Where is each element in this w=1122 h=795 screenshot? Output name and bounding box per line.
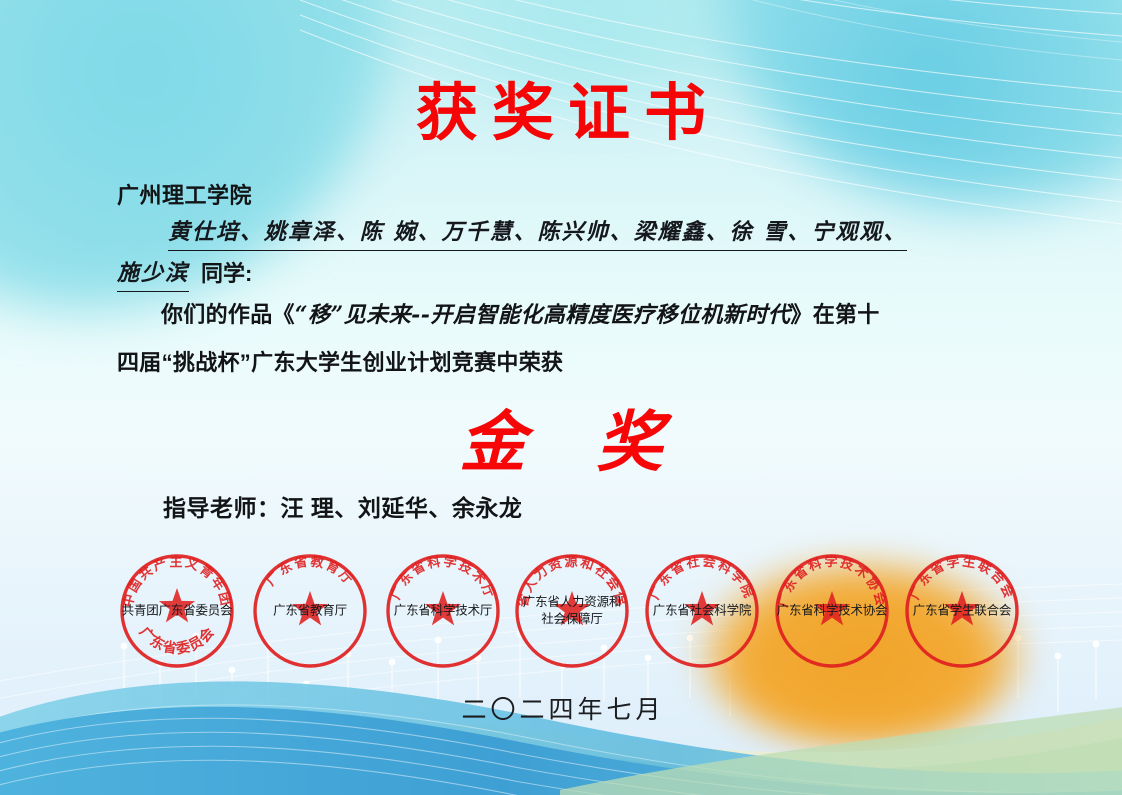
seal-label: 广东省科学技术协会 [759,603,905,620]
seal-label: 广东省社会科学院 [629,603,775,620]
work-title: “移”见未来--开启智能化高精度医疗移位机新时代 [295,302,791,328]
body-suffix: 》在第十 [790,302,879,327]
official-seal-3: 广东省科学技术厅广东省科学技术厅 [384,552,502,670]
body-text-line-1: 你们的作品《“移”见未来--开启智能化高精度医疗移位机新时代》在第十 [117,297,880,329]
recipient-names-line-2: 施少滨 [117,255,189,292]
school-name: 广州理工学院 [117,178,252,210]
seal-label: 广东省教育厅 [237,603,383,620]
advisor-line: 指导老师：汪 理、刘延华、余永龙 [163,489,522,523]
svg-text:广东省委员会: 广东省委员会 [136,624,218,658]
certificate-content: 获奖证书 广州理工学院 黄仕培、姚章泽、陈 婉、万千慧、陈兴帅、梁耀鑫、徐 雪、… [0,0,1122,795]
recipient-names-line-1: 黄仕培、姚章泽、陈 婉、万千慧、陈兴帅、梁耀鑫、徐 雪、宁观观、 [168,214,907,251]
issue-date: 二〇二四年七月 [0,690,1122,726]
seal-row: 中国共产主义青年团广东省委员会共青团广东省委员会广东省教育厅广东省教育厅广东省科… [0,552,1122,670]
recipient-names-line-2-row: 施少滨 同学: [117,255,252,292]
award-level: 金 奖 [0,389,1122,485]
certificate-page: 获奖证书 广州理工学院 黄仕培、姚章泽、陈 婉、万千慧、陈兴帅、梁耀鑫、徐 雪、… [0,0,1122,795]
seal-label: 广东省学生联合会 [889,603,1035,620]
official-seal-4: 广东省人力资源和社会保障厅广东省人力资源和社会保障厅 [513,552,631,670]
seal-label: 广东省科学技术厅 [370,603,516,620]
page-title: 获奖证书 [0,79,1122,147]
official-seal-6: 广东省科学技术协会广东省科学技术协会 [773,552,891,670]
official-seal-1: 中国共产主义青年团广东省委员会共青团广东省委员会 [118,552,236,670]
body-text-line-2: 四届“挑战杯”广东大学生创业计划竞赛中荣获 [117,345,563,377]
seal-label: 共青团广东省委员会 [104,603,250,620]
body-prefix: 你们的作品《 [161,302,295,327]
official-seal-2: 广东省教育厅广东省教育厅 [251,552,369,670]
seal-label: 广东省人力资源和社会保障厅 [499,594,645,628]
svg-text:广东省教育厅: 广东省教育厅 [263,553,357,589]
official-seal-7: 广东省学生联合会广东省学生联合会 [903,552,1021,670]
official-seal-5: 广东省社会科学院广东省社会科学院 [643,552,761,670]
recipient-suffix: 同学: [189,256,252,292]
